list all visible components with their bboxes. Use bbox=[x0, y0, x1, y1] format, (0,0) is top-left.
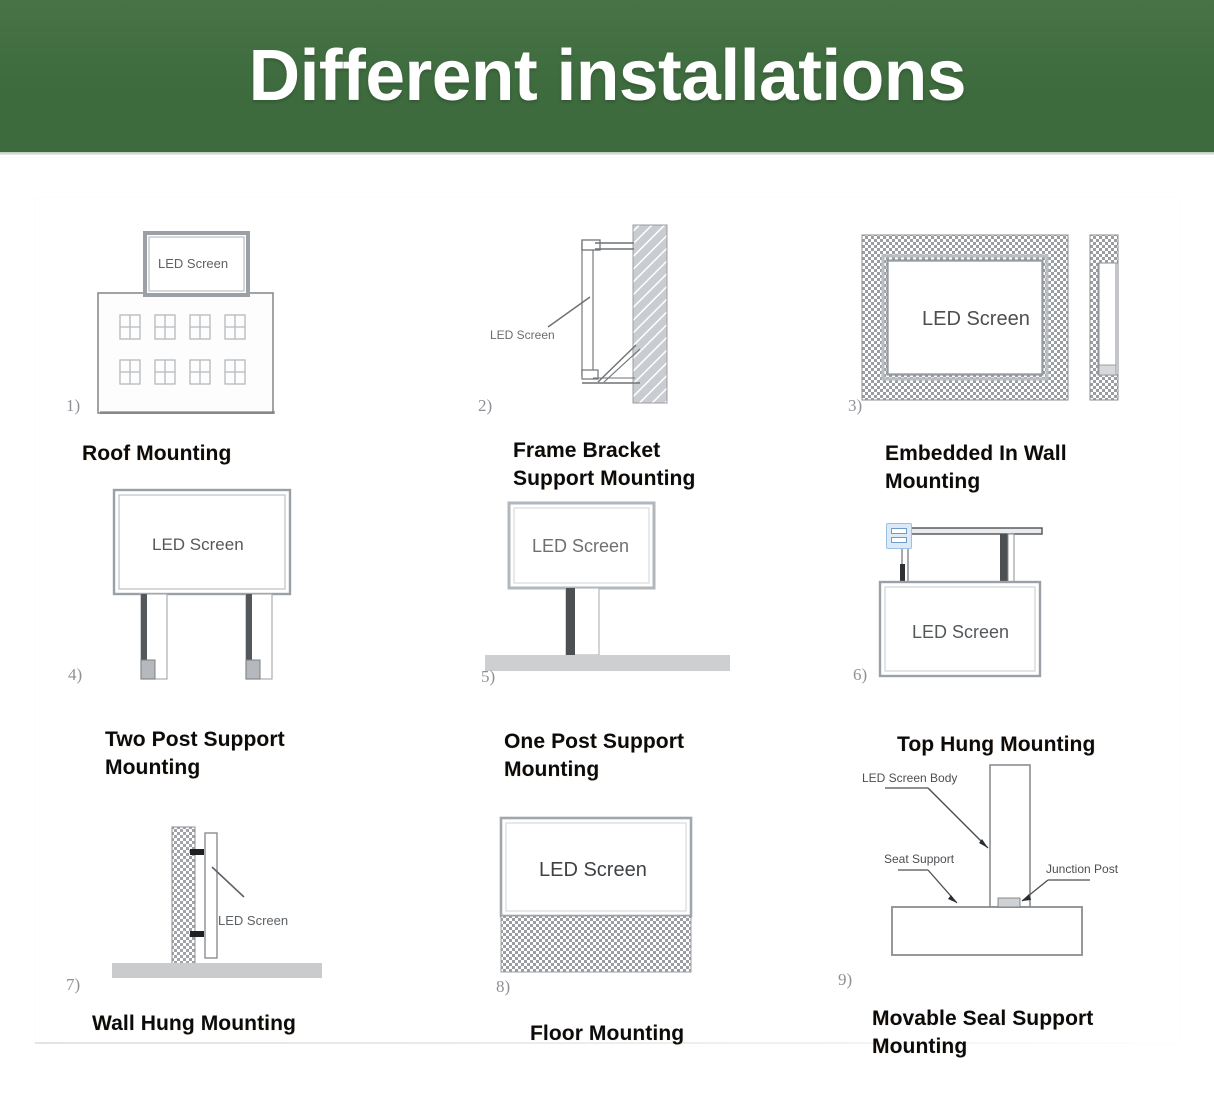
broken-image-icon bbox=[886, 523, 912, 549]
frame-bracket-diagram: LED Screen bbox=[470, 215, 840, 425]
figure-caption-9: Movable Seal Support Mounting bbox=[872, 1005, 1093, 1061]
figure-caption-4: Two Post Support Mounting bbox=[105, 726, 285, 782]
header-underline bbox=[0, 152, 1214, 155]
callout-led-screen-body: LED Screen Body bbox=[862, 771, 957, 785]
figure-index-3: 3) bbox=[848, 396, 862, 416]
floor-mounting-diagram: LED Screen bbox=[470, 810, 840, 995]
figure-floor-mounting: LED Screen bbox=[470, 810, 840, 995]
movable-seal-support-diagram: LED Screen Body Seat Support Junction Po… bbox=[850, 760, 1180, 1000]
wall-hung-diagram: LED Screen bbox=[60, 805, 430, 995]
figure-caption-2: Frame Bracket Support Mounting bbox=[513, 437, 695, 493]
figure-index-5: 5) bbox=[481, 667, 495, 687]
led-screen-label: LED Screen bbox=[152, 535, 244, 554]
two-post-support-diagram: LED Screen bbox=[60, 480, 430, 690]
callout-seat-support: Seat Support bbox=[884, 852, 955, 866]
figure-frame-bracket-support-mounting: LED Screen bbox=[470, 215, 840, 425]
callout-junction-post: Junction Post bbox=[1046, 862, 1119, 876]
figure-index-9: 9) bbox=[838, 970, 852, 990]
figure-caption-5: One Post Support Mounting bbox=[504, 728, 684, 784]
led-screen-label: LED Screen bbox=[912, 622, 1009, 642]
figure-index-1: 1) bbox=[66, 396, 80, 416]
page-title: Different installations bbox=[248, 40, 965, 112]
figure-movable-seal-support-mounting: LED Screen Body Seat Support Junction Po… bbox=[850, 760, 1180, 1000]
figure-index-8: 8) bbox=[496, 977, 510, 997]
one-post-support-diagram: LED Screen bbox=[470, 495, 840, 685]
led-screen-label: LED Screen bbox=[922, 308, 1030, 330]
figure-index-7: 7) bbox=[66, 975, 80, 995]
figure-index-4: 4) bbox=[68, 665, 82, 685]
figure-wall-hung-mounting: LED Screen bbox=[60, 805, 430, 995]
figure-caption-1: Roof Mounting bbox=[82, 440, 231, 468]
led-screen-label: LED Screen bbox=[158, 256, 228, 271]
roof-mounting-diagram: LED Screen bbox=[60, 215, 430, 425]
figure-caption-7: Wall Hung Mounting bbox=[92, 1010, 296, 1038]
led-screen-label: LED Screen bbox=[539, 859, 647, 881]
figure-one-post-support-mounting: LED Screen bbox=[470, 495, 840, 685]
callout-led-screen: LED Screen bbox=[218, 913, 288, 928]
callout-led-screen: LED Screen bbox=[490, 328, 555, 342]
figure-roof-mounting: LED Screen bbox=[60, 215, 430, 425]
figure-caption-3: Embedded In Wall Mounting bbox=[885, 440, 1067, 496]
figure-two-post-support-mounting: LED Screen bbox=[60, 480, 430, 690]
led-screen-label: LED Screen bbox=[532, 536, 629, 556]
figure-index-2: 2) bbox=[478, 396, 492, 416]
figure-caption-8: Floor Mounting bbox=[530, 1020, 684, 1048]
page-header-banner: Different installations bbox=[0, 0, 1214, 152]
embedded-in-wall-diagram: LED Screen bbox=[850, 215, 1180, 425]
figure-caption-6: Top Hung Mounting bbox=[897, 731, 1095, 759]
figure-index-6: 6) bbox=[853, 665, 867, 685]
figure-embedded-in-wall-mounting: LED Screen bbox=[850, 215, 1180, 425]
